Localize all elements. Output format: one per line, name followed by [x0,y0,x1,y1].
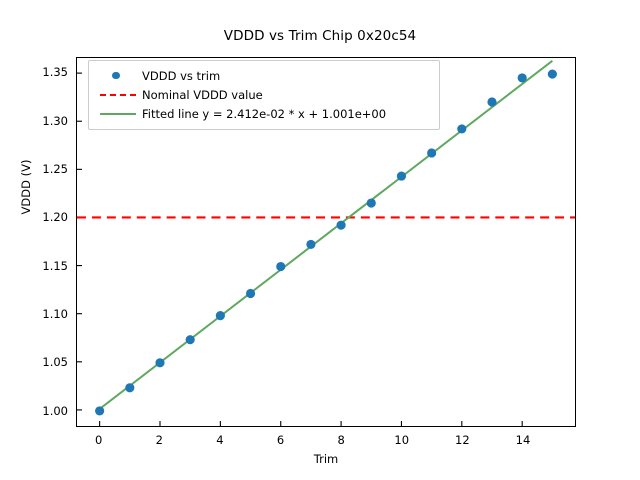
y-tick-label: 1.35 [42,65,68,79]
legend-key-scatter [98,66,138,85]
legend-label: Nominal VDDD value [138,88,263,102]
x-tick-label: 6 [277,433,284,447]
y-tick-label: 1.30 [42,114,68,128]
y-axis-ticks [77,73,82,410]
y-tick-label: 1.15 [42,259,68,273]
y-tick-label: 1.25 [42,162,68,176]
legend: VDDD vs trim Nominal VDDD value Fitted l… [88,60,440,130]
solid-line-icon [100,113,136,115]
y-tick-label: 1.00 [42,404,68,418]
scatter-marker-icon [112,72,120,80]
data-point [337,221,346,230]
y-tick-label: 1.10 [42,307,68,321]
matplotlib-figure: VDDD vs Trim Chip 0x20c54 1.00 1.05 1.10… [0,0,640,480]
legend-item-vddd-vs-trim: VDDD vs trim [98,66,430,85]
data-point [518,73,527,82]
legend-label: VDDD vs trim [138,69,220,83]
y-tick-label: 1.05 [42,355,68,369]
page-title: VDDD vs Trim Chip 0x20c54 [0,28,640,44]
x-tick-label: 2 [156,433,163,447]
data-point [186,335,195,344]
data-point [306,240,315,249]
x-tick-label: 14 [516,433,531,447]
legend-item-fitted-line: Fitted line y = 2.412e-02 * x + 1.001e+0… [98,104,430,123]
dashed-line-icon [100,94,136,96]
data-point [246,289,255,298]
y-axis-label: VDDD (V) [19,142,33,232]
legend-key-line [98,104,138,123]
x-axis-ticks [100,421,523,426]
data-point [216,311,225,320]
y-axis-tick-labels: 1.00 1.05 1.10 1.15 1.20 1.25 1.30 1.35 [0,0,68,480]
data-point [155,358,164,367]
data-point [457,124,466,133]
x-tick-label: 4 [216,433,223,447]
data-point [276,262,285,271]
data-point [487,97,496,106]
y-tick-label: 1.20 [42,210,68,224]
data-point [397,172,406,181]
legend-key-dashed-line [98,85,138,104]
legend-label: Fitted line y = 2.412e-02 * x + 1.001e+0… [138,107,386,121]
x-tick-label: 0 [95,433,102,447]
x-tick-label: 12 [455,433,470,447]
x-tick-label: 8 [337,433,344,447]
data-point [95,406,104,415]
x-tick-label: 10 [394,433,409,447]
data-point [367,198,376,207]
x-axis-label: Trim [76,452,576,466]
data-point [125,383,134,392]
legend-item-nominal-vddd: Nominal VDDD value [98,85,430,104]
data-point [548,69,557,78]
data-point [427,148,436,157]
